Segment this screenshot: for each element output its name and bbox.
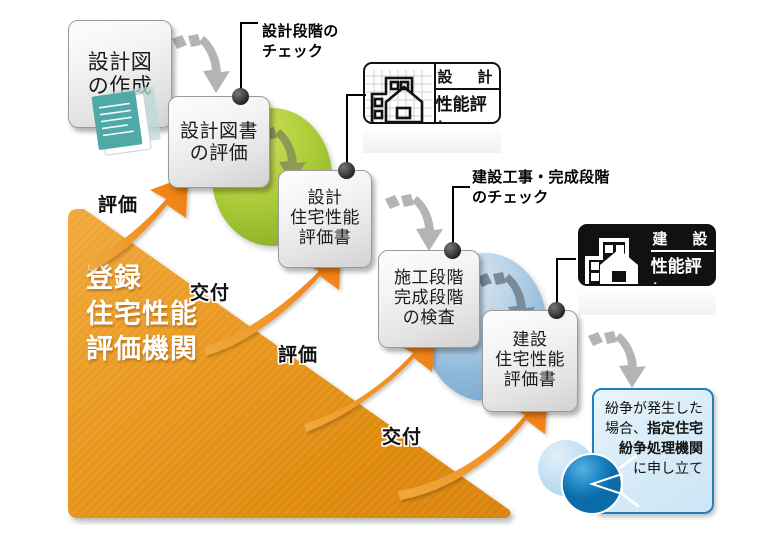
step-label: 建設 住宅性能 評価書 [495,331,565,390]
mark-bottom-text: 性能評価 [436,88,499,124]
mark-top-text: 設 計 [436,64,499,88]
diagram-canvas: 登録 住宅性能 評価機関 [0,0,770,538]
mark-bottom-text: 性能評価 [651,250,714,286]
knob-construction-report [548,302,565,319]
step-box-design-review[interactable]: 設計図書 の評価 [168,96,270,188]
mark-reflection [363,127,501,153]
registered-body-label: 登録 住宅性能 評価機関 [86,261,198,368]
leader-design-check [240,22,242,90]
step-box-design-report[interactable]: 設計 住宅性能 評価書 [278,170,372,268]
step-label: 施工段階 完成段階 の検査 [394,269,464,328]
grey-arrow-1 [172,34,230,93]
dispute-line-2-bold: 指定住宅 [647,421,703,437]
knob-design-report [338,162,355,179]
grey-arrow-5 [588,331,646,388]
dispute-line-2: 場合、指定住宅 [603,420,703,440]
callout-construction-stage-check: 建設工事・完成段階 のチェック [472,168,610,207]
dispute-line-1: 紛争が発生した [603,400,703,420]
house-grid-icon [580,226,649,284]
dispute-line-2-plain: 場合、 [605,421,647,437]
leader-design-mark [346,94,348,164]
leader-design-check-h [240,22,258,24]
design-evaluation-mark: 設 計 性能評価 [363,62,501,153]
leader-build-check [452,186,454,244]
conflict-circles-icon [560,452,650,532]
step-label: 設計 住宅性能 評価書 [290,189,360,248]
construction-evaluation-mark: 建 設 性能評価 [578,224,716,315]
document-stack-icon [84,82,170,158]
leader-build-check-h [452,186,470,188]
leader-build-mark-h [556,258,576,260]
flow-label-issue-design: 交付 [190,278,230,305]
step-box-construction-report[interactable]: 建設 住宅性能 評価書 [482,310,578,412]
mark-reflection [578,289,716,315]
house-grid-icon [365,64,434,122]
mark-top-text: 建 設 [651,226,714,250]
flow-label-eval-build: 評価 [278,340,318,367]
flow-label-issue-build: 交付 [382,422,422,449]
knob-design-review [232,88,249,105]
callout-design-stage-check: 設計段階の チェック [262,22,339,61]
knob-construction-check [444,242,461,259]
leader-build-mark [556,258,558,304]
flow-label-eval-design: 評価 [98,190,138,217]
step-box-construction-check[interactable]: 施工段階 完成段階 の検査 [378,250,480,348]
leader-design-mark-h [346,94,366,96]
step-label: 設計図書 の評価 [180,120,258,164]
